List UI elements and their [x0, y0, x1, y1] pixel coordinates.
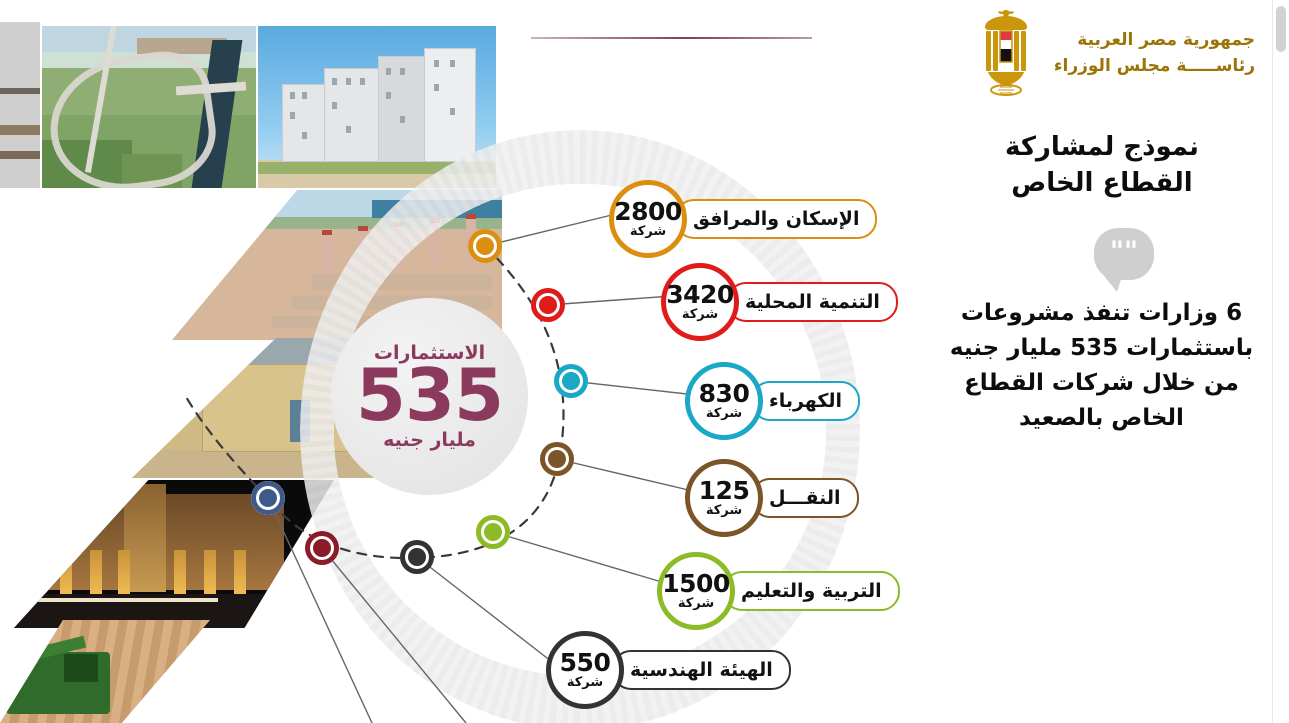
- item-label-pill: التربية والتعليم: [723, 571, 900, 611]
- header-text: جمهورية مصر العربية رئاســـــة مجلس الوز…: [1054, 27, 1255, 80]
- item-unit: شركة: [678, 597, 714, 611]
- item-count-bubble: 125 شركة: [685, 459, 763, 537]
- item-count-bubble: 2800 شركة: [609, 180, 687, 258]
- panel-title: نموذج لمشاركة القطاع الخاص: [957, 130, 1247, 202]
- kpi-unit: مليار جنيه: [383, 429, 476, 451]
- photo-harvester-field: [0, 620, 210, 723]
- item-count: 1500: [662, 571, 730, 596]
- list-item[interactable]: 125 شركة النقـــل: [685, 459, 859, 537]
- government-header: جمهورية مصر العربية رئاســـــة مجلس الوز…: [972, 6, 1255, 100]
- header-line-2: رئاســـــة مجلس الوزراء: [1054, 53, 1255, 79]
- total-investment-kpi: الاستثمارات 535 مليار جنيه: [331, 298, 528, 495]
- photo-highway-interchange-canal: [42, 26, 256, 188]
- item-unit: شركة: [706, 504, 742, 518]
- item-label-pill: الإسكان والمرافق: [675, 199, 877, 239]
- item-count: 2800: [614, 199, 682, 224]
- item-count-bubble: 830 شركة: [685, 362, 763, 440]
- item-label-pill: التنمية المحلية: [727, 282, 898, 322]
- egypt-eagle-emblem-icon: [972, 6, 1040, 100]
- dial-marker-dark-red[interactable]: [305, 531, 339, 565]
- infographic-slide: جمهورية مصر العربية رئاســـــة مجلس الوز…: [0, 0, 1289, 723]
- item-count-bubble: 1500 شركة: [657, 552, 735, 630]
- header-line-1: جمهورية مصر العربية: [1054, 27, 1255, 53]
- item-count: 3420: [666, 282, 734, 307]
- item-count: 830: [699, 381, 750, 406]
- item-label-pill: النقـــل: [751, 478, 859, 518]
- item-unit: شركة: [706, 407, 742, 421]
- dial-marker-transport[interactable]: [540, 442, 574, 476]
- dial-marker-education[interactable]: [476, 515, 510, 549]
- vertical-scrollbar[interactable]: [1272, 0, 1289, 723]
- dial-marker-engineering-authority[interactable]: [400, 540, 434, 574]
- quote-glyph: "": [1104, 238, 1144, 265]
- item-unit: شركة: [630, 225, 666, 239]
- kpi-value: 535: [356, 360, 503, 431]
- item-count-bubble: 550 شركة: [546, 631, 624, 709]
- panel-body-text: 6 وزارات تنفذ مشروعات باستثمارات 535 ملي…: [944, 296, 1259, 436]
- top-divider-rule: [531, 37, 812, 39]
- item-count: 125: [699, 478, 750, 503]
- list-item[interactable]: 2800 شركة الإسكان والمرافق: [609, 180, 877, 258]
- item-count-bubble: 3420 شركة: [661, 263, 739, 341]
- dial-marker-local-development[interactable]: [531, 288, 565, 322]
- item-unit: شركة: [682, 308, 718, 322]
- dial-marker-navy[interactable]: [251, 481, 285, 515]
- scrollbar-thumb[interactable]: [1276, 6, 1286, 52]
- dial-marker-housing[interactable]: [468, 229, 502, 263]
- item-label-pill: الهيئة الهندسية: [612, 650, 791, 690]
- photo-luxor-temple-night: [14, 480, 334, 628]
- dial-marker-electricity[interactable]: [554, 364, 588, 398]
- photo-desert-excavation: [0, 22, 40, 188]
- list-item[interactable]: 1500 شركة التربية والتعليم: [657, 552, 900, 630]
- list-item[interactable]: 550 شركة الهيئة الهندسية: [546, 631, 791, 709]
- list-item[interactable]: 830 شركة الكهرباء: [685, 362, 860, 440]
- item-count: 550: [560, 650, 611, 675]
- item-unit: شركة: [567, 676, 603, 690]
- list-item[interactable]: 3420 شركة التنمية المحلية: [661, 263, 898, 341]
- item-label-pill: الكهرباء: [751, 381, 860, 421]
